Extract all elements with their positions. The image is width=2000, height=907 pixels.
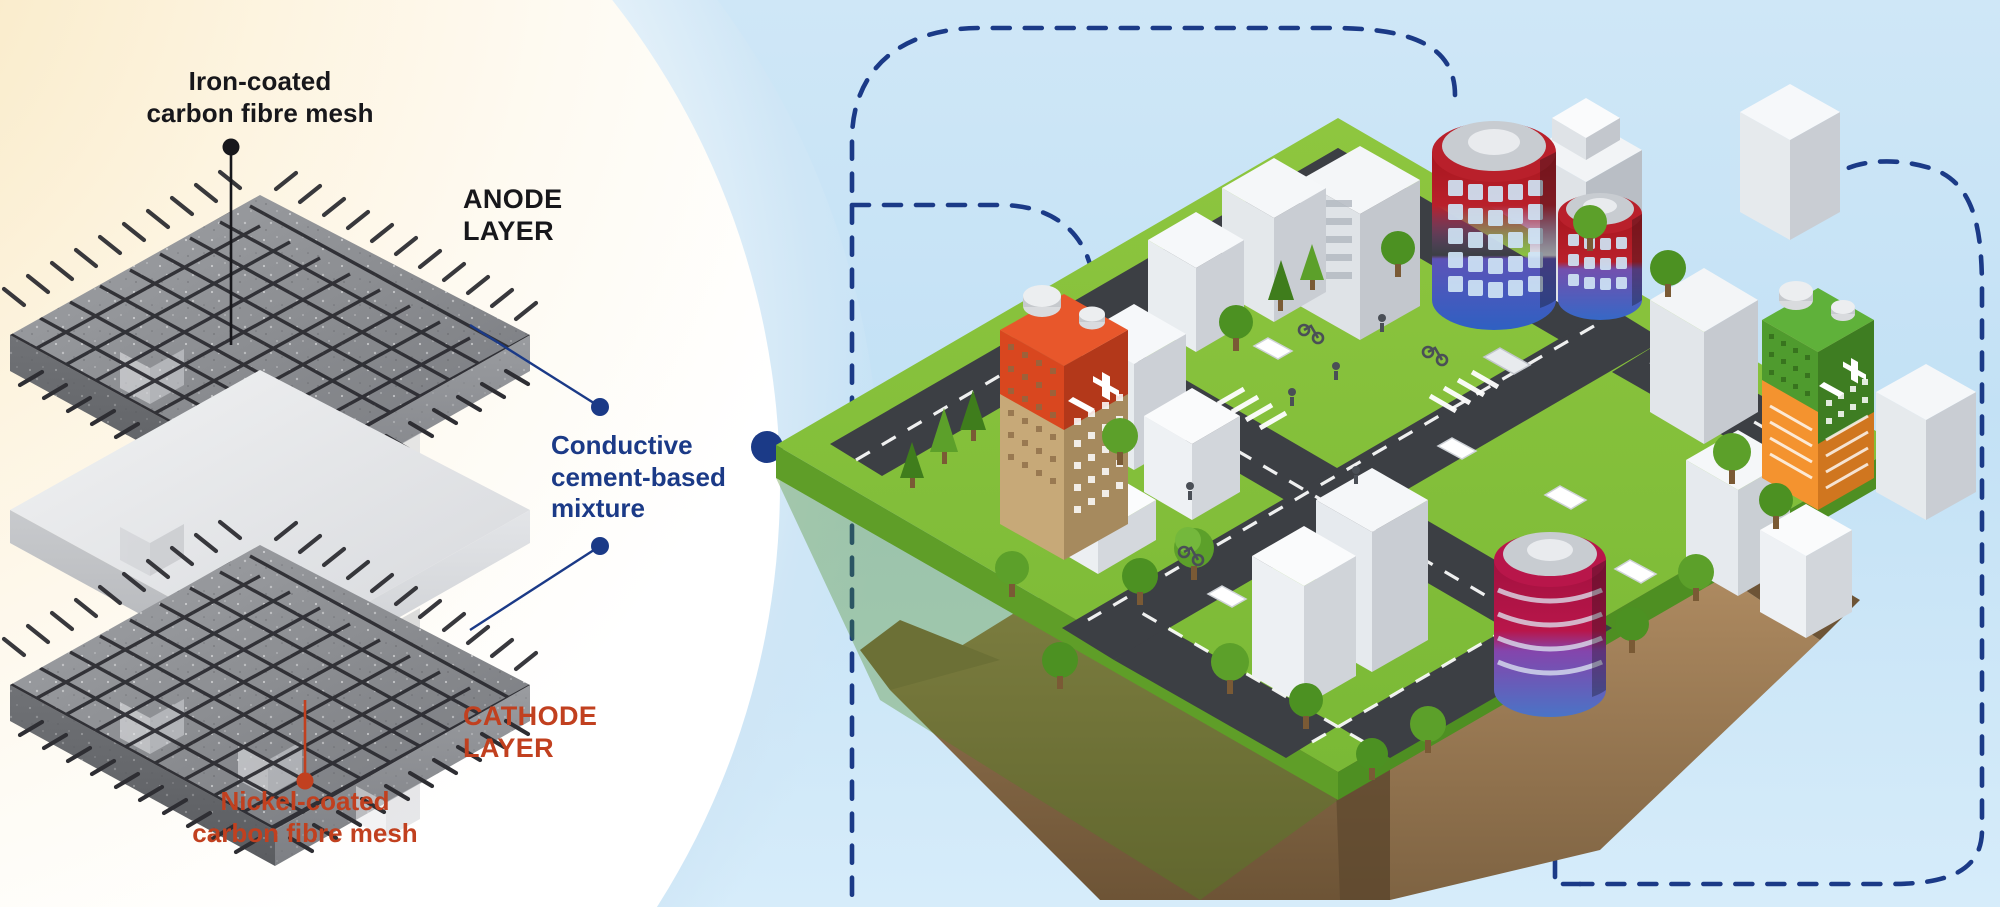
battery-tower-cylinder-magenta xyxy=(1494,532,1606,717)
isometric-city-island xyxy=(0,0,2000,907)
infographic-canvas: Iron-coated carbon fibre mesh ANODE LAYE… xyxy=(0,0,2000,907)
battery-tower-cylinder-tall xyxy=(1432,121,1556,330)
battery-tower-9v-green xyxy=(1762,281,1874,510)
